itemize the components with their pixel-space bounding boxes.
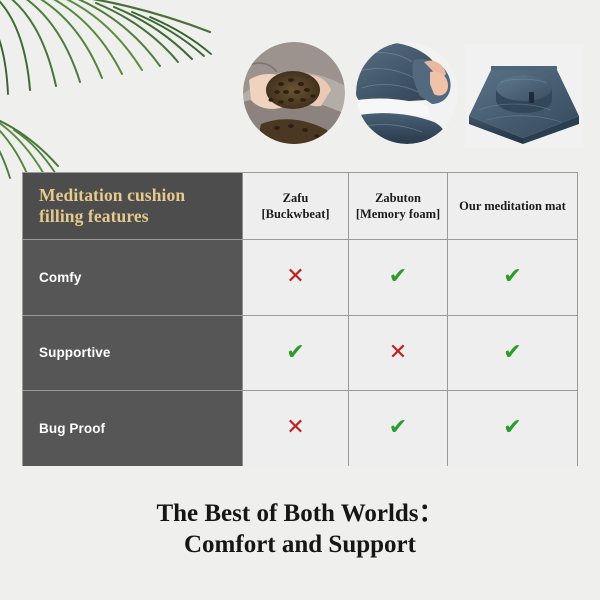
- cell-supportive-zafu: ✔: [243, 316, 349, 391]
- column-header-zabuton-line-1: Zabuton: [375, 191, 421, 205]
- column-header-zafu-line-2: [Buckwbeat]: [261, 207, 329, 221]
- column-header-zafu: Zafu [Buckwbeat]: [243, 173, 349, 239]
- check-icon: ✔: [389, 266, 407, 288]
- meditation-mat-photo: [465, 44, 583, 148]
- feature-label-cell: Bug Proof: [23, 391, 243, 466]
- cross-icon: ✕: [286, 266, 304, 288]
- table-title: Meditation cushion filling features: [39, 185, 185, 228]
- product-comparison-infographic: Meditation cushion filling features Zafu…: [0, 0, 600, 600]
- cell-bug-proof-zabuton: ✔: [349, 391, 448, 466]
- column-header-zabuton-line-2: [Memory foam]: [356, 207, 440, 221]
- table-row: Bug Proof ✕ ✔ ✔: [23, 390, 577, 466]
- buckwheat-hulls-photo: [243, 42, 345, 144]
- column-header-zabuton: Zabuton [Memory foam]: [349, 173, 448, 239]
- feature-label-cell: Comfy: [23, 240, 243, 315]
- check-icon: ✔: [389, 417, 407, 439]
- table-row: Supportive ✔ ✕ ✔: [23, 315, 577, 391]
- cell-comfy-zafu: ✕: [243, 240, 349, 315]
- table-title-cell: Meditation cushion filling features: [23, 173, 243, 239]
- check-icon: ✔: [503, 342, 521, 364]
- palm-frond-large-icon: [0, 0, 212, 176]
- cross-icon: ✕: [286, 417, 304, 439]
- check-icon: ✔: [503, 266, 521, 288]
- feature-label-cell: Supportive: [23, 316, 243, 391]
- table-header-row: Meditation cushion filling features Zafu…: [23, 173, 577, 239]
- tagline-line-2: Comfort and Support: [0, 529, 600, 560]
- column-header-our-mat: Our meditation mat: [448, 173, 577, 239]
- feature-label-bug-proof: Bug Proof: [39, 421, 105, 436]
- feature-label-comfy: Comfy: [39, 270, 82, 285]
- table-row: Comfy ✕ ✔ ✔: [23, 239, 577, 315]
- cell-supportive-zabuton: ✕: [349, 316, 448, 391]
- cell-comfy-zabuton: ✔: [349, 240, 448, 315]
- cell-comfy-our-mat: ✔: [448, 240, 577, 315]
- column-header-zafu-line-1: Zafu: [283, 191, 309, 205]
- tagline-line-1: The Best of Both Worlds：: [156, 500, 443, 527]
- cell-bug-proof-zafu: ✕: [243, 391, 349, 466]
- table-title-line-2: filling features: [39, 206, 149, 226]
- column-header-our-mat-line-1: Our meditation mat: [459, 199, 566, 213]
- table-title-line-1: Meditation cushion: [39, 185, 185, 205]
- check-icon: ✔: [286, 342, 304, 364]
- memory-foam-photo: [356, 42, 458, 144]
- check-icon: ✔: [503, 417, 521, 439]
- tagline: The Best of Both Worlds： Comfort and Sup…: [0, 498, 600, 561]
- feature-label-supportive: Supportive: [39, 345, 111, 360]
- cross-icon: ✕: [389, 342, 407, 364]
- product-photo-strip: [243, 42, 583, 150]
- cell-bug-proof-our-mat: ✔: [448, 391, 577, 466]
- comparison-table: Meditation cushion filling features Zafu…: [22, 172, 578, 466]
- cell-supportive-our-mat: ✔: [448, 316, 577, 391]
